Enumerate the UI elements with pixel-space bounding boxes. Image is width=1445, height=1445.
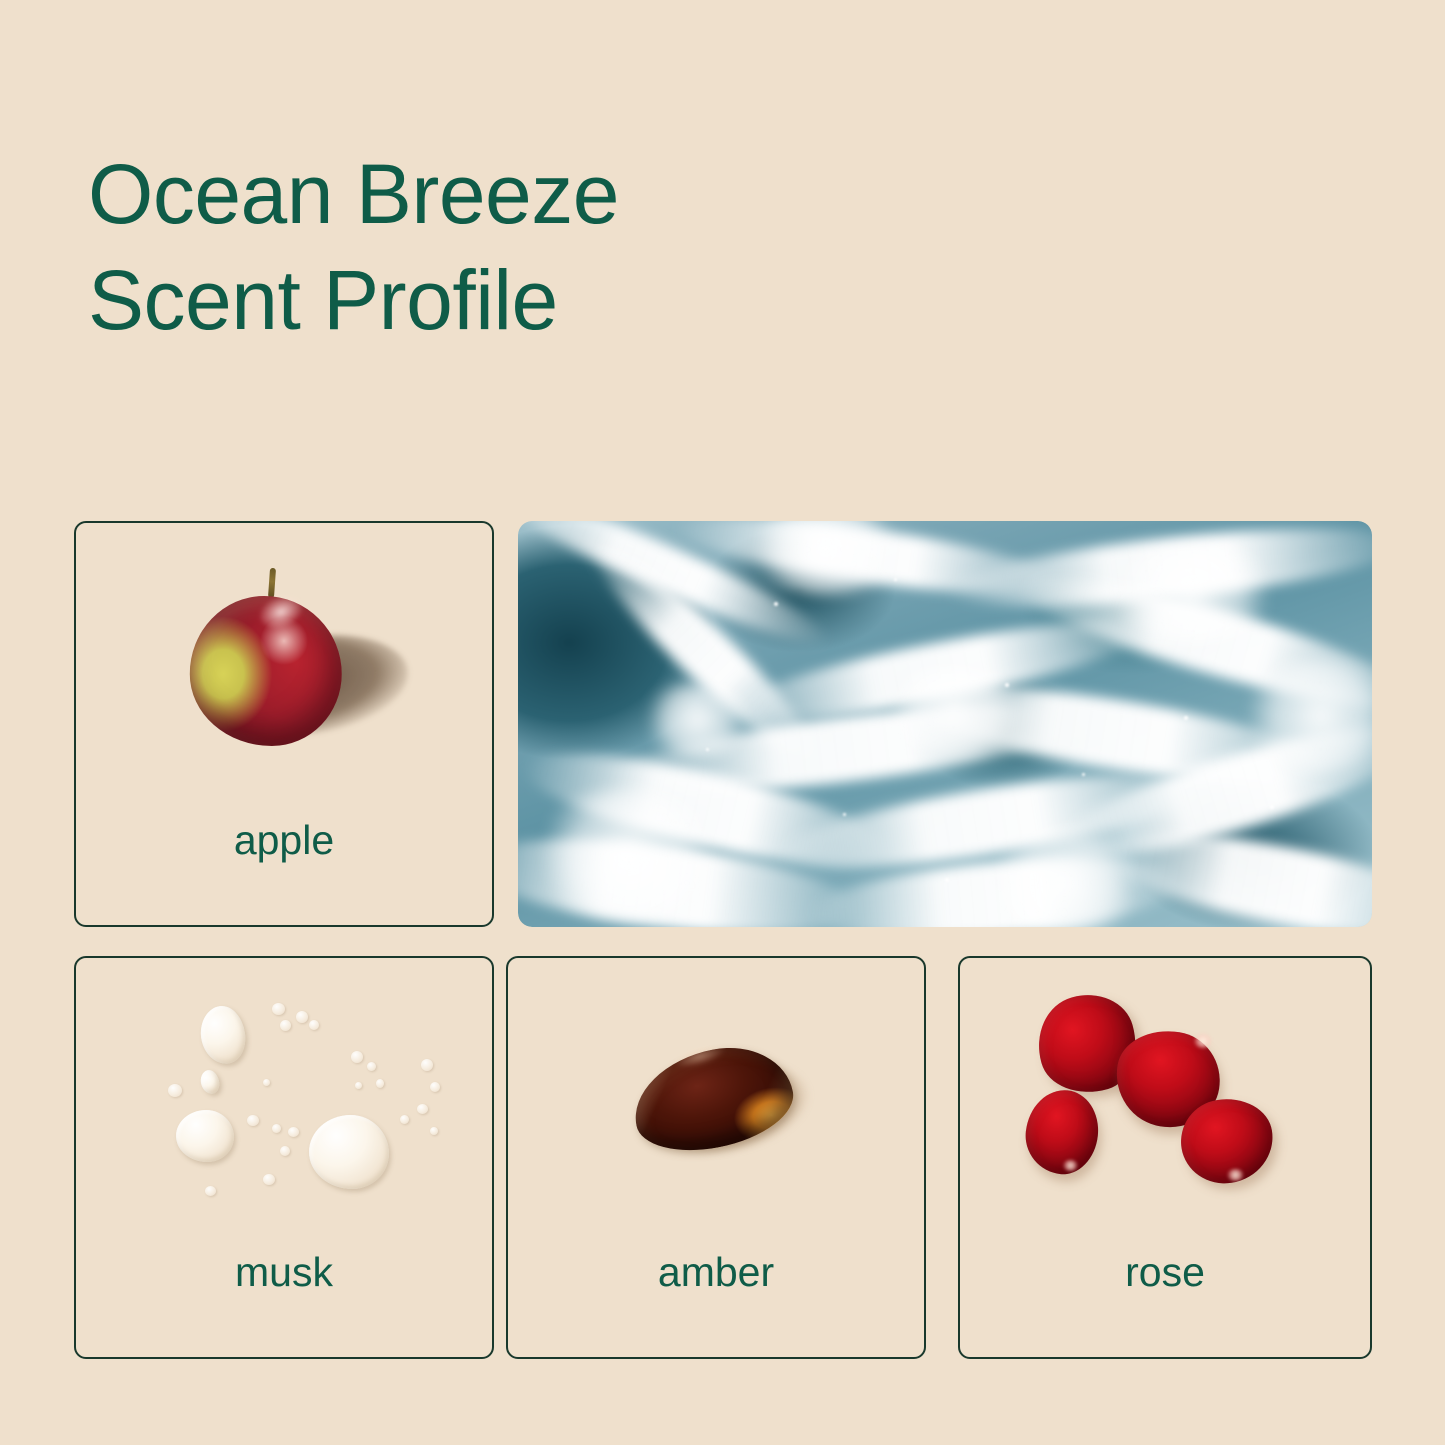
scent-card-label-amber: amber bbox=[508, 1252, 924, 1293]
musk-droplets-illustration bbox=[76, 958, 492, 1239]
musk-droplets-photo bbox=[76, 958, 492, 1239]
apple-photo bbox=[76, 523, 492, 807]
rose-petals-photo bbox=[960, 958, 1370, 1239]
amber-illustration bbox=[508, 958, 924, 1239]
scent-card-label-rose: rose bbox=[960, 1252, 1370, 1293]
scent-note-grid: apple bbox=[74, 521, 1372, 1359]
rose-petal bbox=[1021, 1087, 1101, 1178]
scent-card-label-musk: musk bbox=[76, 1252, 492, 1293]
scent-card-rose[interactable]: rose bbox=[958, 956, 1372, 1359]
rose-petals-illustration bbox=[960, 958, 1370, 1239]
scent-card-label-apple: apple bbox=[76, 820, 492, 861]
scent-card-apple[interactable]: apple bbox=[74, 521, 494, 927]
page-title: Ocean Breeze Scent Profile bbox=[88, 142, 988, 354]
scent-card-musk[interactable]: musk bbox=[74, 956, 494, 1359]
scent-card-ocean[interactable] bbox=[518, 521, 1372, 927]
ocean-wave-photo bbox=[518, 521, 1372, 927]
amber-stone-photo bbox=[508, 958, 924, 1239]
scent-card-amber[interactable]: amber bbox=[506, 956, 926, 1359]
apple-stem bbox=[268, 568, 276, 598]
apple-illustration bbox=[76, 523, 492, 807]
